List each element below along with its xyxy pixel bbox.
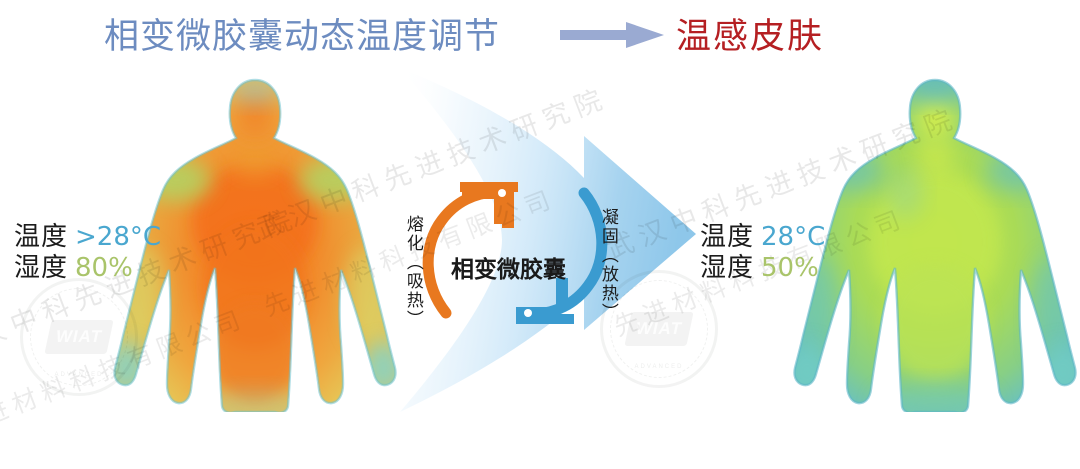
right-humidity-value: 50% (761, 253, 819, 284)
right-humidity-label: 湿度 (700, 253, 754, 284)
right-temp-label: 温度 (700, 222, 754, 253)
title-left: 相变微胶囊动态温度调节 (104, 8, 500, 59)
right-arrow-icon (560, 22, 664, 48)
header: 相变微胶囊动态温度调节 温感皮肤 (0, 0, 1080, 68)
right-temp-row: 温度 28°C (700, 222, 825, 253)
left-humidity-label: 湿度 (14, 253, 68, 284)
melting-label: 熔化（吸热） (403, 215, 421, 329)
left-readout: 温度 >28°C 湿度 80% (14, 222, 161, 283)
right-humidity-row: 湿度 50% (700, 253, 825, 284)
infographic-canvas: 武汉中科先进技术研究院 先进材料科技有限公司 武汉中科先进技术研究院 先进材料科… (0, 0, 1080, 469)
left-humidity-value: 80% (75, 253, 133, 284)
left-temp-label: 温度 (14, 222, 68, 253)
pcm-label: 相变微胶囊 (451, 250, 566, 284)
solidify-label: 凝固（放热） (598, 208, 616, 322)
watermark-logo-text: WIAT (54, 327, 104, 347)
right-temp-value: 28°C (761, 222, 825, 253)
title-right: 温感皮肤 (676, 8, 824, 59)
left-humidity-row: 湿度 80% (14, 253, 161, 284)
left-temp-row: 温度 >28°C (14, 222, 161, 253)
right-readout: 温度 28°C 湿度 50% (700, 222, 825, 283)
left-temp-value: >28°C (75, 222, 161, 253)
watermark-logo-sub: ADVANCED (55, 372, 104, 378)
thermal-body-cool (785, 72, 1080, 412)
melting-arrow-icon (428, 182, 518, 313)
